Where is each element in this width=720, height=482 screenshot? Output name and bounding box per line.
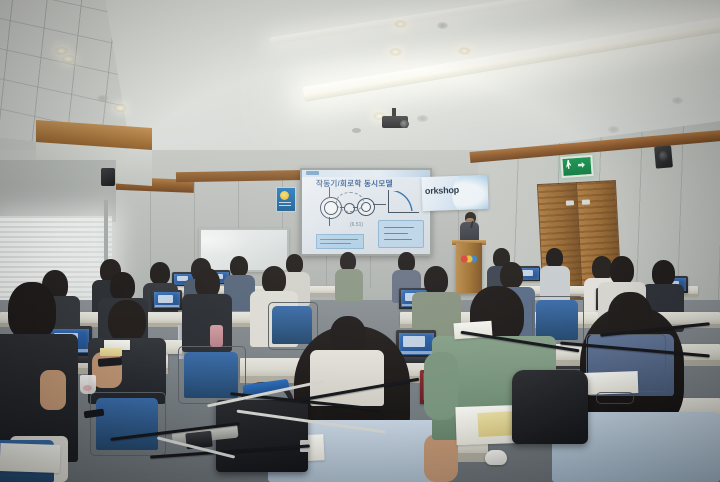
screen-taskbar <box>155 305 179 307</box>
downlight-icon <box>672 97 683 104</box>
diagram-link <box>353 207 358 208</box>
diagram-link <box>373 204 386 205</box>
chair-frame <box>90 392 166 456</box>
slide-header-bar <box>302 170 430 177</box>
downlight-icon <box>394 20 407 28</box>
whiteboard-glare <box>201 230 251 256</box>
wall-speaker-left <box>101 168 115 186</box>
slide-note-box <box>316 234 364 249</box>
person-arm <box>40 370 66 410</box>
poster-logo-icon <box>280 191 289 200</box>
door-handle-icon[interactable] <box>582 199 590 204</box>
podium <box>456 243 482 293</box>
podium-logo-icon <box>461 254 477 264</box>
paper-handout <box>0 443 60 473</box>
smoke-detector-icon <box>352 128 361 133</box>
downlight-icon <box>417 115 428 122</box>
downlight-icon <box>55 47 68 55</box>
person-head <box>230 256 248 277</box>
diagram-link <box>340 207 345 208</box>
downlight-icon <box>458 47 471 55</box>
cup-pattern <box>83 385 92 391</box>
person-arm <box>424 434 458 482</box>
person-head <box>398 252 415 272</box>
downlight-icon <box>97 95 108 102</box>
backpack <box>512 370 588 444</box>
computer-mouse[interactable] <box>485 450 507 465</box>
slide-equation-box <box>378 220 424 248</box>
equation-number: (6.51) <box>350 222 363 228</box>
workshop-banner: orkshop <box>421 175 488 211</box>
slide-title: 작동기/회로학 동시모델 <box>316 178 422 189</box>
person-torso <box>182 294 232 352</box>
person-head <box>262 266 286 294</box>
laptop-screen <box>399 333 434 355</box>
projector-lens-icon <box>400 120 409 128</box>
person-head <box>592 256 612 280</box>
water-bottle <box>210 325 223 347</box>
mobile-phone[interactable] <box>98 357 122 367</box>
equation-line <box>384 227 414 228</box>
exit-sign <box>560 155 593 178</box>
downlight-icon <box>62 55 75 63</box>
person-head <box>610 256 634 285</box>
downlight-icon <box>437 22 448 29</box>
screen-window <box>158 295 173 303</box>
person-head <box>110 272 135 301</box>
yellow-note <box>100 348 122 356</box>
banner-text: orkshop <box>425 185 459 196</box>
person-head <box>652 260 675 287</box>
slide-logo-icon <box>306 171 319 175</box>
person-head <box>286 254 303 274</box>
diagram-link <box>329 187 330 197</box>
window-curtain-valance <box>0 160 116 222</box>
screen-taskbar <box>400 351 433 354</box>
person-head <box>424 266 448 295</box>
laptop-screen <box>154 292 180 308</box>
equation-line <box>384 233 408 234</box>
screen-window <box>403 336 425 347</box>
door-handle-icon[interactable] <box>566 200 574 205</box>
downlight-icon <box>389 48 402 56</box>
person-torso <box>335 269 363 301</box>
person-head <box>8 282 56 340</box>
downlight-icon <box>608 126 619 133</box>
diagram-loop <box>336 192 364 212</box>
person-head <box>150 262 170 285</box>
person-head <box>546 248 563 268</box>
person-arm <box>424 352 458 420</box>
classroom-photo: 작동기/회로학 동시모델 (6.51) orkshop <box>0 0 720 482</box>
poster-text-lines <box>279 202 291 208</box>
equation-line <box>384 239 412 240</box>
diagram-link <box>329 217 330 226</box>
slide-mini-plot-curve <box>389 191 417 211</box>
laptop[interactable] <box>152 290 182 310</box>
note-line <box>320 239 358 240</box>
downlight-icon <box>114 104 127 112</box>
note-line <box>320 243 351 244</box>
projection-screen: 작동기/회로학 동시모델 (6.51) <box>302 170 430 254</box>
eyeglasses <box>596 392 634 404</box>
person-head <box>500 262 523 289</box>
